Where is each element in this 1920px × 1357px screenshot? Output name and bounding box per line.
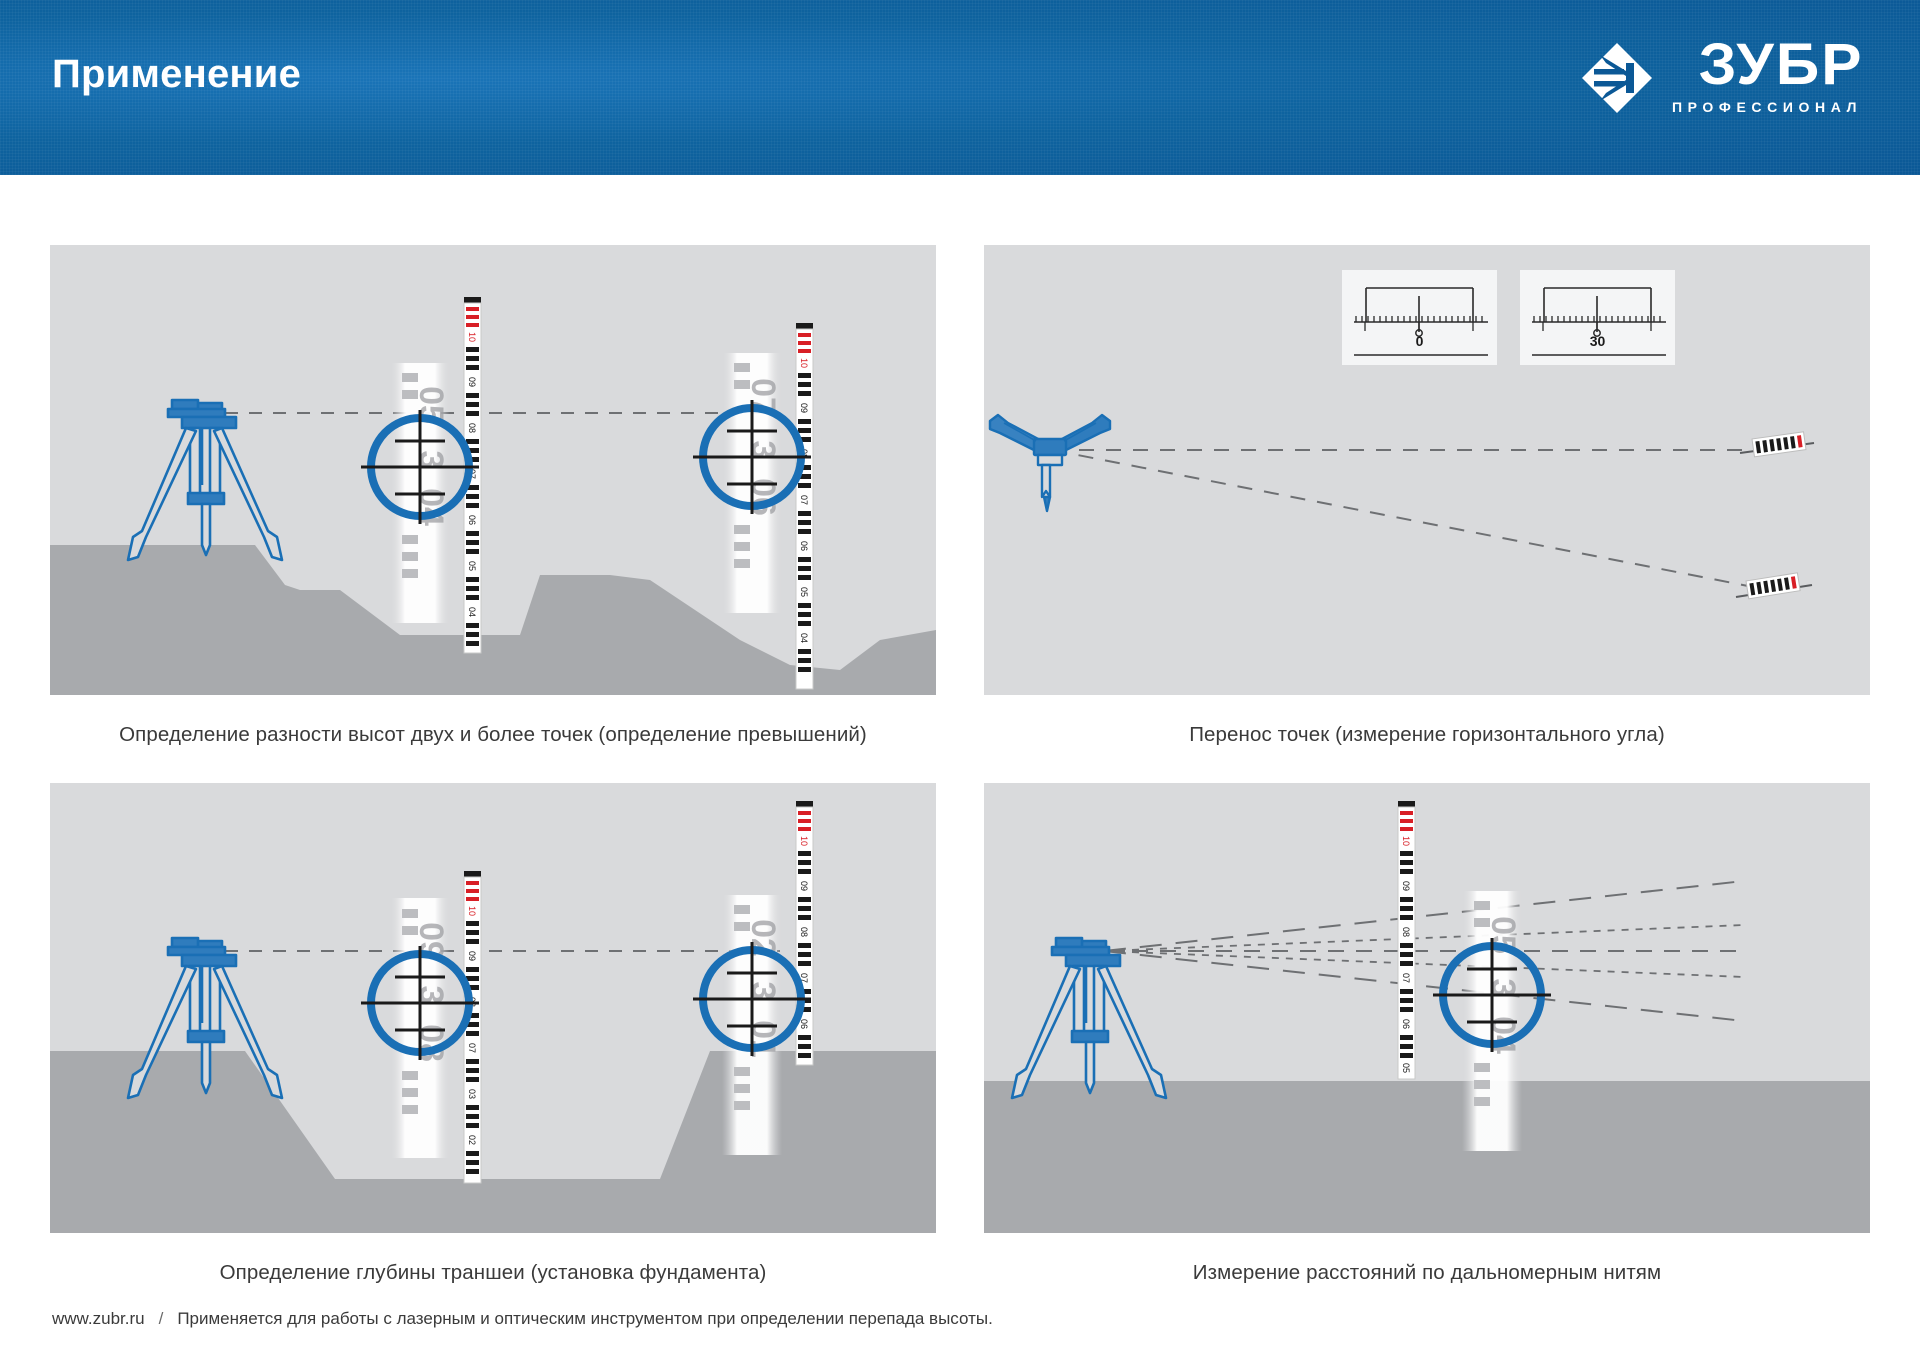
svg-text:03: 03	[467, 1089, 477, 1099]
tripod-optical-level-icon	[1012, 938, 1166, 1098]
panels-grid: 10 09 08 07 06	[0, 175, 1920, 1295]
tripod-top-view-icon	[990, 415, 1110, 511]
illustration-trench-depth: 10 09 08 07 03	[50, 783, 936, 1233]
brand-name: ЗУБР	[1699, 38, 1864, 91]
leveling-staff-right: 10 09 08 07 06	[796, 801, 813, 1065]
reticle-left	[361, 946, 479, 1060]
svg-text:08: 08	[799, 927, 809, 937]
svg-text:09: 09	[799, 881, 809, 891]
panel-caption: Определение глубины траншеи (установка ф…	[50, 1261, 936, 1285]
svg-text:05: 05	[1401, 1063, 1411, 1073]
svg-text:07: 07	[467, 1043, 477, 1053]
svg-text:10: 10	[1401, 836, 1411, 846]
reticle-left	[361, 410, 479, 524]
panel-caption: Измерение расстояний по дальномерным нит…	[984, 1261, 1870, 1285]
svg-text:04: 04	[467, 607, 477, 617]
illustration-point-transfer: 0	[984, 245, 1870, 695]
reticle	[1433, 938, 1551, 1052]
stadia-ray-fan	[1104, 881, 1744, 1021]
tripod-optical-level-icon	[128, 400, 282, 560]
brand-tagline: ПРОФЕССИОНАЛ	[1672, 99, 1862, 115]
svg-text:09: 09	[1401, 881, 1411, 891]
leveling-staff: 10 09 08 07 06	[1398, 801, 1415, 1079]
panel-caption: Перенос точек (измерение горизонтального…	[984, 723, 1870, 747]
svg-text:10: 10	[799, 358, 809, 368]
page-title: Применение	[52, 52, 301, 97]
brand-logo: ЗУБР ПРОФЕССИОНАЛ	[1580, 38, 1864, 115]
horizontal-angle-scale-thirty: 30	[1520, 270, 1675, 365]
terrain-trench	[50, 1051, 936, 1233]
svg-text:06: 06	[799, 1019, 809, 1029]
zubr-diamond-logo-icon	[1580, 41, 1654, 115]
footer-site-url[interactable]: www.zubr.ru	[52, 1309, 145, 1329]
leveling-staff-right: 10 09 08 07 06	[796, 323, 813, 689]
angle-scale-label: 30	[1520, 333, 1675, 349]
svg-text:10: 10	[467, 332, 477, 342]
svg-text:10: 10	[799, 836, 809, 846]
svg-text:06: 06	[467, 515, 477, 525]
svg-text:07: 07	[799, 495, 809, 505]
footer-note: Применяется для работы с лазерным и опти…	[177, 1309, 992, 1329]
survey-target-upper	[1740, 432, 1814, 457]
svg-text:09: 09	[799, 403, 809, 413]
reticle-right	[693, 400, 811, 514]
footer-separator: /	[159, 1309, 164, 1329]
angle-scale-label: 0	[1342, 333, 1497, 349]
panel-point-transfer: 0	[984, 245, 1870, 747]
illustration-height-difference: 10 09 08 07 06	[50, 245, 936, 695]
svg-text:06: 06	[1401, 1019, 1411, 1029]
survey-target-lower	[1736, 573, 1812, 599]
svg-text:10: 10	[467, 906, 477, 916]
svg-text:04: 04	[799, 633, 809, 643]
reticle-right	[693, 942, 811, 1056]
svg-text:08: 08	[467, 423, 477, 433]
panel-trench-depth: 10 09 08 07 03	[50, 783, 936, 1285]
page-header: Применение ЗУБР ПРОФЕССИОНАЛ	[0, 0, 1920, 175]
svg-text:06: 06	[799, 541, 809, 551]
svg-text:09: 09	[467, 951, 477, 961]
illustration-stadia-distance: 10 09 08 07 06	[984, 783, 1870, 1233]
svg-text:07: 07	[1401, 973, 1411, 983]
svg-text:02: 02	[467, 1135, 477, 1145]
sight-ray-lower	[1052, 450, 1784, 593]
panel-caption: Определение разности высот двух и более …	[50, 723, 936, 747]
horizontal-angle-scale-zero: 0	[1342, 270, 1497, 365]
svg-text:05: 05	[467, 561, 477, 571]
page-footer: www.zubr.ru / Применяется для работы с л…	[52, 1309, 993, 1329]
panel-stadia-distance: 10 09 08 07 06	[984, 783, 1870, 1285]
svg-text:05: 05	[799, 587, 809, 597]
terrain-flat	[984, 1081, 1870, 1233]
svg-text:09: 09	[467, 377, 477, 387]
svg-text:08: 08	[1401, 927, 1411, 937]
panel-height-difference: 10 09 08 07 06	[50, 245, 936, 747]
